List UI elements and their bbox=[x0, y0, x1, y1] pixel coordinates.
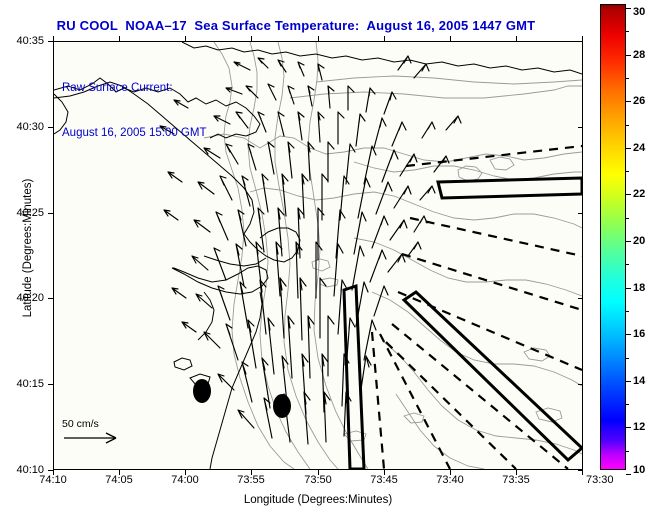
colorbar-tick-18: 18 bbox=[633, 282, 645, 294]
sst-map-figure: RU COOL NOAA–17 Sea Surface Temperature:… bbox=[0, 0, 651, 518]
map-plot-area: Raw Surface Current: August 16, 2005 15:… bbox=[53, 41, 583, 470]
figure-title: RU COOL NOAA–17 Sea Surface Temperature:… bbox=[0, 18, 592, 33]
x-tick-label-8: 73:30 bbox=[586, 474, 614, 486]
colorbar-tick-24: 24 bbox=[633, 142, 645, 154]
colorbar: 30 28 26 24 22 20 18 16 14 12 10 bbox=[600, 4, 626, 470]
y-tick-label-0: 40:35 bbox=[4, 35, 44, 47]
y-axis-title: Latitude (Degrees:Minutes) bbox=[22, 128, 34, 368]
colorbar-tick-16: 16 bbox=[633, 328, 645, 340]
x-tick-label-4: 73:50 bbox=[304, 474, 332, 486]
x-tick-label-6: 73:40 bbox=[436, 474, 464, 486]
colorbar-tick-10: 10 bbox=[633, 464, 645, 476]
velocity-scale-bar: 50 cm/s bbox=[62, 418, 124, 451]
x-tick-label-5: 73:45 bbox=[370, 474, 398, 486]
colorbar-tick-22: 22 bbox=[633, 188, 645, 200]
colorbar-tick-20: 20 bbox=[633, 235, 645, 247]
colorbar-tick-28: 28 bbox=[633, 49, 645, 61]
right-arrow-icon bbox=[62, 430, 124, 446]
sst-contour-lines bbox=[204, 42, 582, 469]
scale-bar-label: 50 cm/s bbox=[62, 418, 124, 430]
x-tick-label-2: 74:00 bbox=[171, 474, 199, 486]
colorbar-tick-14: 14 bbox=[633, 375, 645, 387]
radar-coverage-wedges bbox=[344, 178, 582, 469]
colorbar-tick-12: 12 bbox=[633, 421, 645, 433]
map-canvas: Raw Surface Current: August 16, 2005 15:… bbox=[54, 42, 582, 469]
x-axis-title: Longitude (Degrees:Minutes) bbox=[53, 494, 583, 506]
y-tick-label-5: 40:10 bbox=[4, 464, 44, 476]
current-annotation-line1: Raw Surface Current: bbox=[62, 81, 206, 96]
x-tick-label-3: 73:55 bbox=[237, 474, 265, 486]
colorbar-gradient bbox=[600, 4, 626, 470]
colorbar-tick-26: 26 bbox=[633, 95, 645, 107]
current-annotation: Raw Surface Current: August 16, 2005 15:… bbox=[62, 51, 206, 171]
current-annotation-line2: August 16, 2005 15:00 GMT bbox=[62, 126, 206, 141]
x-tick-label-1: 74:05 bbox=[105, 474, 133, 486]
x-tick-label-7: 73:35 bbox=[502, 474, 530, 486]
colorbar-tick-30: 30 bbox=[633, 6, 645, 18]
y-tick-label-4: 40:15 bbox=[4, 378, 44, 390]
